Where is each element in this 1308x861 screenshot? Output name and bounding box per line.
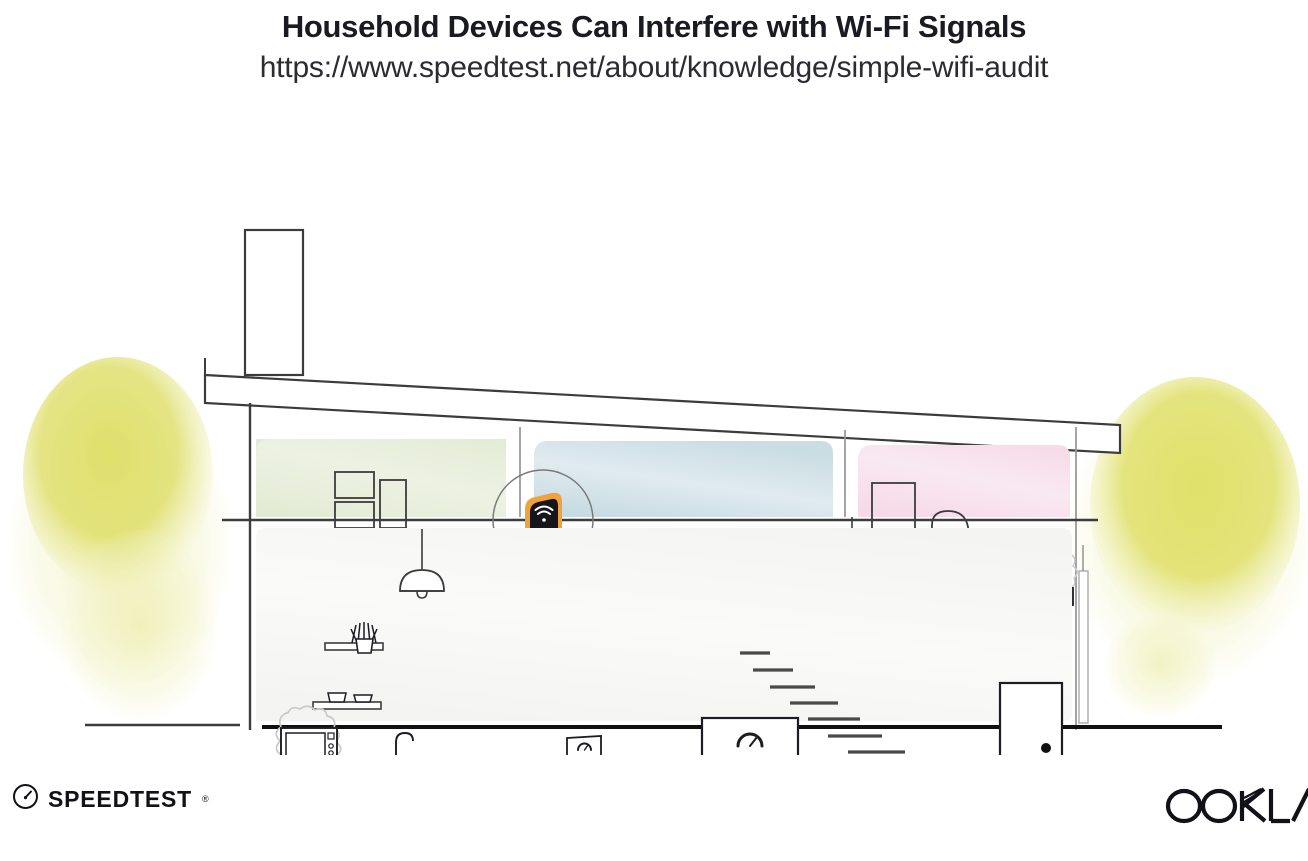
house-illustration: SPEEDTEST (0, 105, 1308, 755)
door-knob-icon[interactable] (1041, 743, 1051, 753)
microwave[interactable] (281, 728, 337, 755)
television[interactable]: SPEEDTEST (702, 718, 798, 755)
speedtest-wordmark: SPEEDTEST (48, 786, 192, 813)
ookla-logo[interactable]: OOKLA (1164, 783, 1308, 829)
foliage-left (8, 357, 232, 720)
speedtest-logo[interactable]: SPEEDTEST ® (12, 783, 209, 815)
chimney (245, 230, 303, 375)
speedtest-gauge-icon (12, 783, 39, 815)
infographic-page: Household Devices Can Interfere with Wi-… (0, 0, 1308, 861)
page-title: Household Devices Can Interfere with Wi-… (0, 9, 1308, 45)
source-url: https://www.speedtest.net/about/knowledg… (0, 51, 1308, 86)
front-door[interactable] (1000, 683, 1062, 755)
speedtest-trademark: ® (202, 794, 209, 804)
laptop-dining[interactable] (562, 736, 608, 755)
header: Household Devices Can Interfere with Wi-… (0, 0, 1308, 85)
wifi-router[interactable] (525, 493, 562, 533)
sink-faucet (396, 733, 413, 755)
footer: SPEEDTEST ® OOKLA (0, 761, 1308, 861)
roof (205, 358, 1120, 453)
room-ground-floor: SPEEDTEST (256, 528, 1072, 755)
